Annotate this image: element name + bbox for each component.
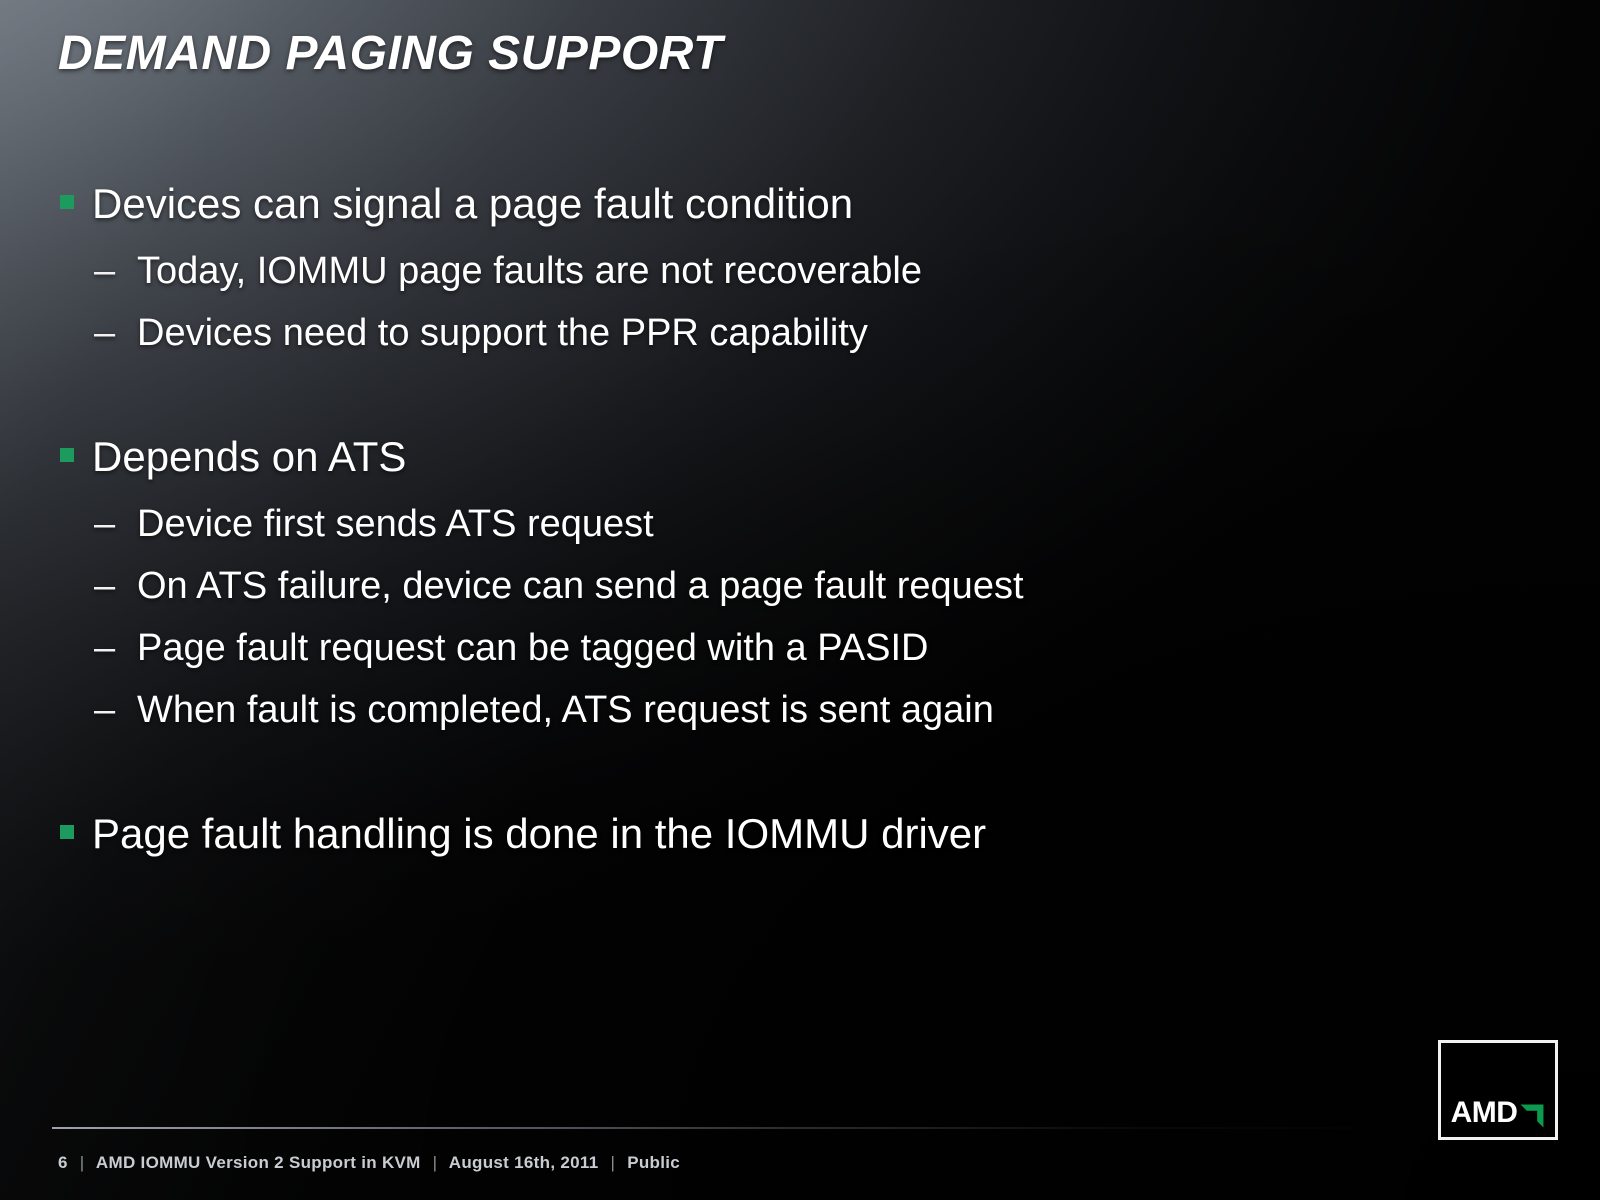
- square-bullet-icon: [60, 448, 74, 462]
- bullet-item: Devices can signal a page fault conditio…: [56, 180, 1520, 228]
- amd-arrow-icon: [1519, 1103, 1545, 1129]
- sub-bullet-text: Devices need to support the PPR capabili…: [137, 312, 868, 355]
- sub-bullet-item: –Today, IOMMU page faults are not recove…: [56, 250, 1520, 293]
- footer-page-number: 6: [58, 1153, 68, 1172]
- slide: DEMAND PAGING SUPPORT Devices can signal…: [0, 0, 1600, 1200]
- bullet-text: Devices can signal a page fault conditio…: [92, 180, 853, 228]
- en-dash-bullet-icon: –: [94, 567, 120, 605]
- square-bullet-icon: [60, 825, 74, 839]
- en-dash-bullet-icon: –: [94, 691, 120, 729]
- bullet-item: Depends on ATS: [56, 433, 1520, 481]
- sub-bullet-item: –On ATS failure, device can send a page …: [56, 565, 1520, 608]
- sub-bullet-text: Today, IOMMU page faults are not recover…: [137, 250, 922, 293]
- sub-bullet-item: –Devices need to support the PPR capabil…: [56, 312, 1520, 355]
- en-dash-bullet-icon: –: [94, 629, 120, 667]
- footer-date: August 16th, 2011: [449, 1153, 599, 1172]
- square-bullet-icon: [60, 195, 74, 209]
- footer-deck-title: AMD IOMMU Version 2 Support in KVM: [96, 1153, 421, 1172]
- sub-bullet-item: –When fault is completed, ATS request is…: [56, 689, 1520, 732]
- en-dash-bullet-icon: –: [94, 252, 120, 290]
- en-dash-bullet-icon: –: [94, 505, 120, 543]
- amd-logo-inner: AMD: [1441, 1098, 1555, 1128]
- footer-separator-2: |: [426, 1153, 445, 1172]
- bullet-text: Depends on ATS: [92, 433, 406, 481]
- footer-divider: [52, 1127, 1372, 1129]
- amd-logo: AMD: [1438, 1040, 1558, 1140]
- sub-bullet-item: –Device first sends ATS request: [56, 503, 1520, 546]
- bullet-list: Devices can signal a page fault conditio…: [56, 180, 1520, 880]
- bullet-item: Page fault handling is done in the IOMMU…: [56, 810, 1520, 858]
- bullet-text: Page fault handling is done in the IOMMU…: [92, 810, 986, 858]
- sub-bullet-item: –Page fault request can be tagged with a…: [56, 627, 1520, 670]
- sub-bullet-text: Page fault request can be tagged with a …: [137, 627, 928, 670]
- sub-bullet-text: When fault is completed, ATS request is …: [137, 689, 994, 732]
- footer-classification: Public: [627, 1153, 680, 1172]
- page-title: DEMAND PAGING SUPPORT: [58, 26, 723, 81]
- en-dash-bullet-icon: –: [94, 314, 120, 352]
- amd-wordmark: AMD: [1451, 1098, 1518, 1128]
- footer-separator-1: |: [73, 1153, 92, 1172]
- sub-bullet-text: Device first sends ATS request: [137, 503, 654, 546]
- sub-bullet-text: On ATS failure, device can send a page f…: [137, 565, 1024, 608]
- footer-separator-3: |: [603, 1153, 622, 1172]
- footer: 6 | AMD IOMMU Version 2 Support in KVM |…: [58, 1153, 680, 1173]
